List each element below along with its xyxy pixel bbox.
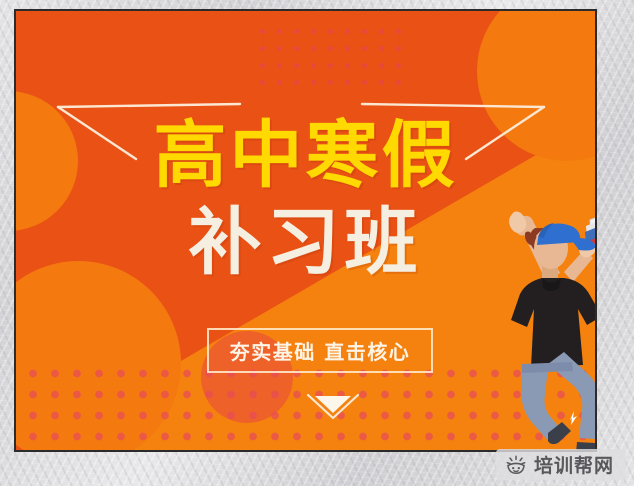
poster-artwork: 高中寒假 补习班 夯实基础 直击核心 (16, 11, 595, 450)
watermark-text: 培训帮网 (534, 451, 614, 478)
tagline-text: 夯实基础 直击核心 (230, 336, 410, 365)
tagline-box: 夯实基础 直击核心 (207, 328, 433, 373)
dot-grid-top (254, 23, 404, 85)
poster-frame: 高中寒假 补习班 夯实基础 直击核心 (14, 9, 597, 452)
watermark: 培训帮网 (496, 449, 626, 480)
chevron-down-icon (304, 391, 362, 425)
screenshot-canvas: 高中寒假 补习班 夯实基础 直击核心 (0, 0, 634, 486)
sunburst-face-icon (505, 454, 527, 476)
corner-bracket-right-icon (346, 93, 546, 161)
corner-bracket-left-icon (56, 93, 256, 161)
jumping-student-illustration (486, 206, 595, 450)
